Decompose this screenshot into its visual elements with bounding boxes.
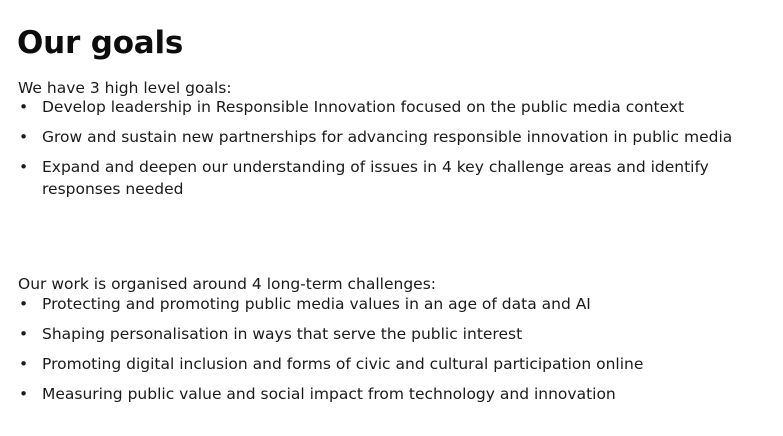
bullet-point-icon: •: [19, 293, 33, 315]
bullet-point-icon: •: [19, 353, 33, 375]
list-item-label: Measuring public value and social impact…: [42, 383, 766, 405]
list-item-label: Expand and deepen our understanding of i…: [42, 156, 766, 200]
bullet-point-icon: •: [19, 96, 33, 118]
list-item-label: Develop leadership in Responsible Innova…: [42, 96, 766, 118]
list-item: • Shaping personalisation in ways that s…: [18, 323, 766, 345]
slide-canvas: Our goals We have 3 high level goals: • …: [0, 0, 783, 436]
list-item: • Grow and sustain new partnerships for …: [18, 126, 766, 148]
challenges-bullet-list: • Protecting and promoting public media …: [18, 293, 766, 405]
bullet-point-icon: •: [19, 323, 33, 345]
list-item-label: Promoting digital inclusion and forms of…: [42, 353, 766, 375]
list-item: • Promoting digital inclusion and forms …: [18, 353, 766, 375]
bullet-point-icon: •: [19, 156, 33, 178]
list-item: • Measuring public value and social impa…: [18, 383, 766, 405]
list-item: • Protecting and promoting public media …: [18, 293, 766, 315]
bullet-point-icon: •: [19, 383, 33, 405]
list-item-label: Grow and sustain new partnerships for ad…: [42, 126, 766, 148]
bullet-point-icon: •: [19, 126, 33, 148]
list-item: • Develop leadership in Responsible Inno…: [18, 96, 766, 118]
goals-bullet-list: • Develop leadership in Responsible Inno…: [18, 96, 766, 200]
list-item-label: Protecting and promoting public media va…: [42, 293, 766, 315]
page-title: Our goals: [17, 23, 183, 63]
challenges-lead-text: Our work is organised around 4 long-term…: [18, 273, 436, 295]
list-item-label: Shaping personalisation in ways that ser…: [42, 323, 766, 345]
list-item: • Expand and deepen our understanding of…: [18, 156, 766, 200]
